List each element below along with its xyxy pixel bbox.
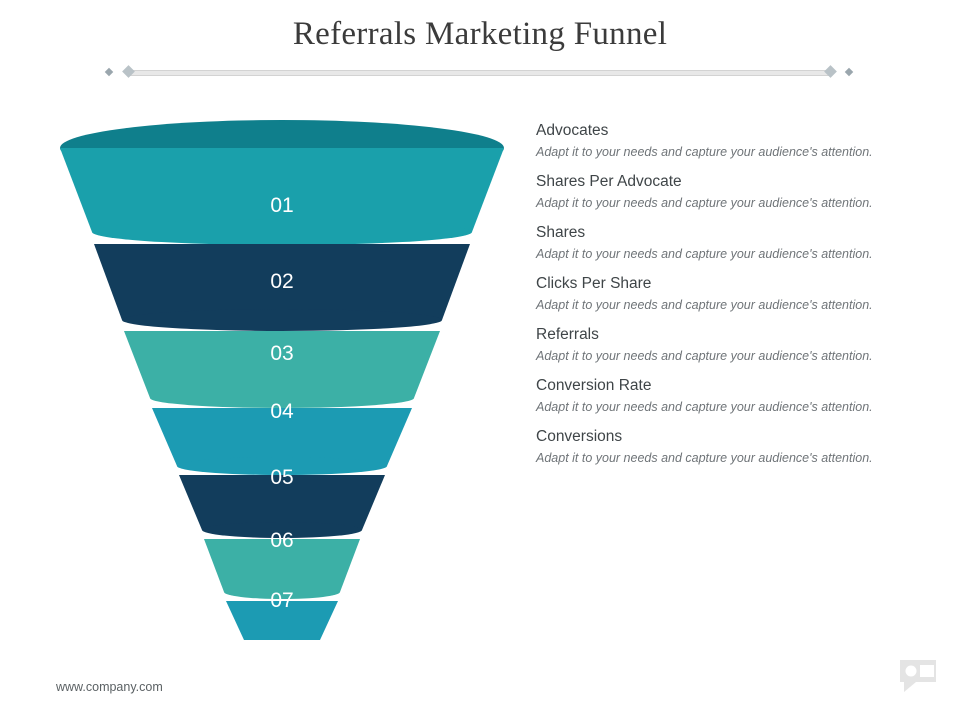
stage-description: Adapt it to your needs and capture your … bbox=[536, 450, 874, 466]
stage-title: Referrals bbox=[536, 326, 886, 344]
list-item: Advocates Adapt it to your needs and cap… bbox=[536, 122, 886, 160]
stage-title: Advocates bbox=[536, 122, 886, 140]
stage-title: Conversions bbox=[536, 428, 886, 446]
stage-description: Adapt it to your needs and capture your … bbox=[536, 297, 874, 313]
funnel-stage-list: Advocates Adapt it to your needs and cap… bbox=[536, 122, 886, 479]
list-item: Referrals Adapt it to your needs and cap… bbox=[536, 326, 886, 364]
divider-line bbox=[128, 70, 832, 76]
funnel-label-5: 05 bbox=[52, 466, 512, 490]
funnel-label-2: 02 bbox=[52, 270, 512, 294]
speech-bubble-logo-icon bbox=[894, 656, 942, 704]
slide-canvas: Referrals Marketing Funnel bbox=[0, 0, 960, 720]
funnel-label-7: 07 bbox=[52, 589, 512, 613]
stage-description: Adapt it to your needs and capture your … bbox=[536, 144, 874, 160]
funnel-label-3: 03 bbox=[52, 342, 512, 366]
stage-title: Shares Per Advocate bbox=[536, 173, 886, 191]
footer-url: www.company.com bbox=[56, 680, 163, 694]
list-item: Shares Per Advocate Adapt it to your nee… bbox=[536, 173, 886, 211]
stage-description: Adapt it to your needs and capture your … bbox=[536, 246, 874, 262]
list-item: Conversions Adapt it to your needs and c… bbox=[536, 428, 886, 466]
funnel-label-1: 01 bbox=[52, 194, 512, 218]
stage-title: Shares bbox=[536, 224, 886, 242]
funnel-segment-1-base bbox=[92, 219, 472, 245]
funnel-label-4: 04 bbox=[52, 400, 512, 424]
funnel-segment-2-base bbox=[122, 309, 442, 331]
list-item: Conversion Rate Adapt it to your needs a… bbox=[536, 377, 886, 415]
stage-description: Adapt it to your needs and capture your … bbox=[536, 399, 874, 415]
diamond-icon-right-outer bbox=[845, 68, 853, 76]
list-item: Shares Adapt it to your needs and captur… bbox=[536, 224, 886, 262]
stage-description: Adapt it to your needs and capture your … bbox=[536, 195, 874, 211]
stage-description: Adapt it to your needs and capture your … bbox=[536, 348, 874, 364]
title-divider bbox=[100, 62, 860, 82]
page-title: Referrals Marketing Funnel bbox=[0, 16, 960, 53]
list-item: Clicks Per Share Adapt it to your needs … bbox=[536, 275, 886, 313]
stage-title: Clicks Per Share bbox=[536, 275, 886, 293]
funnel-diagram: 01 02 03 04 05 06 07 bbox=[52, 110, 512, 640]
diamond-icon-left-outer bbox=[105, 68, 113, 76]
funnel-label-6: 06 bbox=[52, 529, 512, 553]
funnel-svg bbox=[52, 110, 512, 640]
stage-title: Conversion Rate bbox=[536, 377, 886, 395]
